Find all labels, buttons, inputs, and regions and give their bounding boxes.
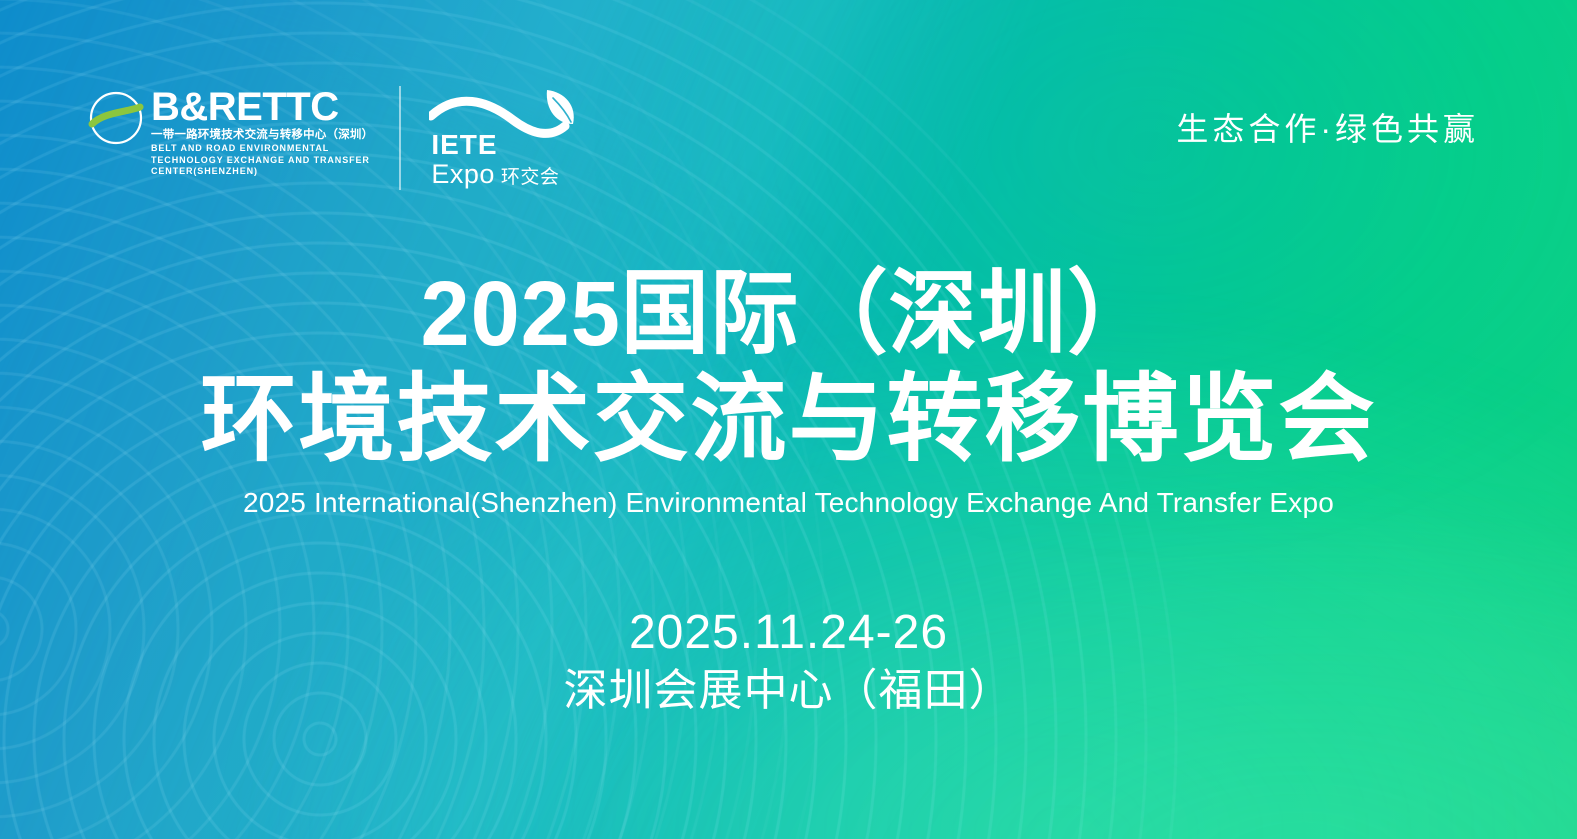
brettc-name-en-line-3: CENTER(SHENZHEN) <box>151 166 373 178</box>
brettc-wordmark: B&RETTC <box>151 86 373 128</box>
iete-expo-word: Expo <box>431 159 495 189</box>
headline-line-1: 2025国际（深圳） <box>32 262 1546 366</box>
iete-acronym: IETE <box>431 130 559 159</box>
iete-expo-logo[interactable]: IETE Expo 环交会 <box>429 86 589 194</box>
iete-name-cn: 环交会 <box>501 163 560 193</box>
event-meta-block: 2025.11.24-26 深圳会展中心（福田） <box>0 604 1577 720</box>
brettc-text-block: B&RETTC 一带一路环境技术交流与转移中心（深圳） BELT AND ROA… <box>151 86 373 178</box>
slogan: 生态合作·绿色共赢 <box>1176 104 1479 150</box>
expo-banner: B&RETTC 一带一路环境技术交流与转移中心（深圳） BELT AND ROA… <box>0 0 1577 839</box>
headline-english-subtitle: 2025 International(Shenzhen) Environment… <box>0 486 1577 520</box>
brettc-name-cn: 一带一路环境技术交流与转移中心（深圳） <box>151 128 373 143</box>
event-date: 2025.11.24-26 <box>0 604 1577 662</box>
headline-block: 2025国际（深圳） 环境技术交流与转移博览会 2025 Internation… <box>0 262 1577 520</box>
event-venue: 深圳会展中心（福田） <box>0 662 1577 720</box>
brettc-name-en-line-2: TECHNOLOGY EXCHANGE AND TRANSFER <box>151 155 373 167</box>
globe-with-green-band-icon <box>88 90 144 146</box>
headline-line-2: 环境技术交流与转移博览会 <box>0 366 1577 474</box>
brettc-logo[interactable]: B&RETTC 一带一路环境技术交流与转移中心（深圳） BELT AND ROA… <box>88 86 401 190</box>
logo-row: B&RETTC 一带一路环境技术交流与转移中心（深圳） BELT AND ROA… <box>88 86 589 194</box>
iete-text-block: IETE Expo 环交会 <box>431 130 559 193</box>
brettc-name-en-line-1: BELT AND ROAD ENVIRONMENTAL <box>151 143 373 155</box>
